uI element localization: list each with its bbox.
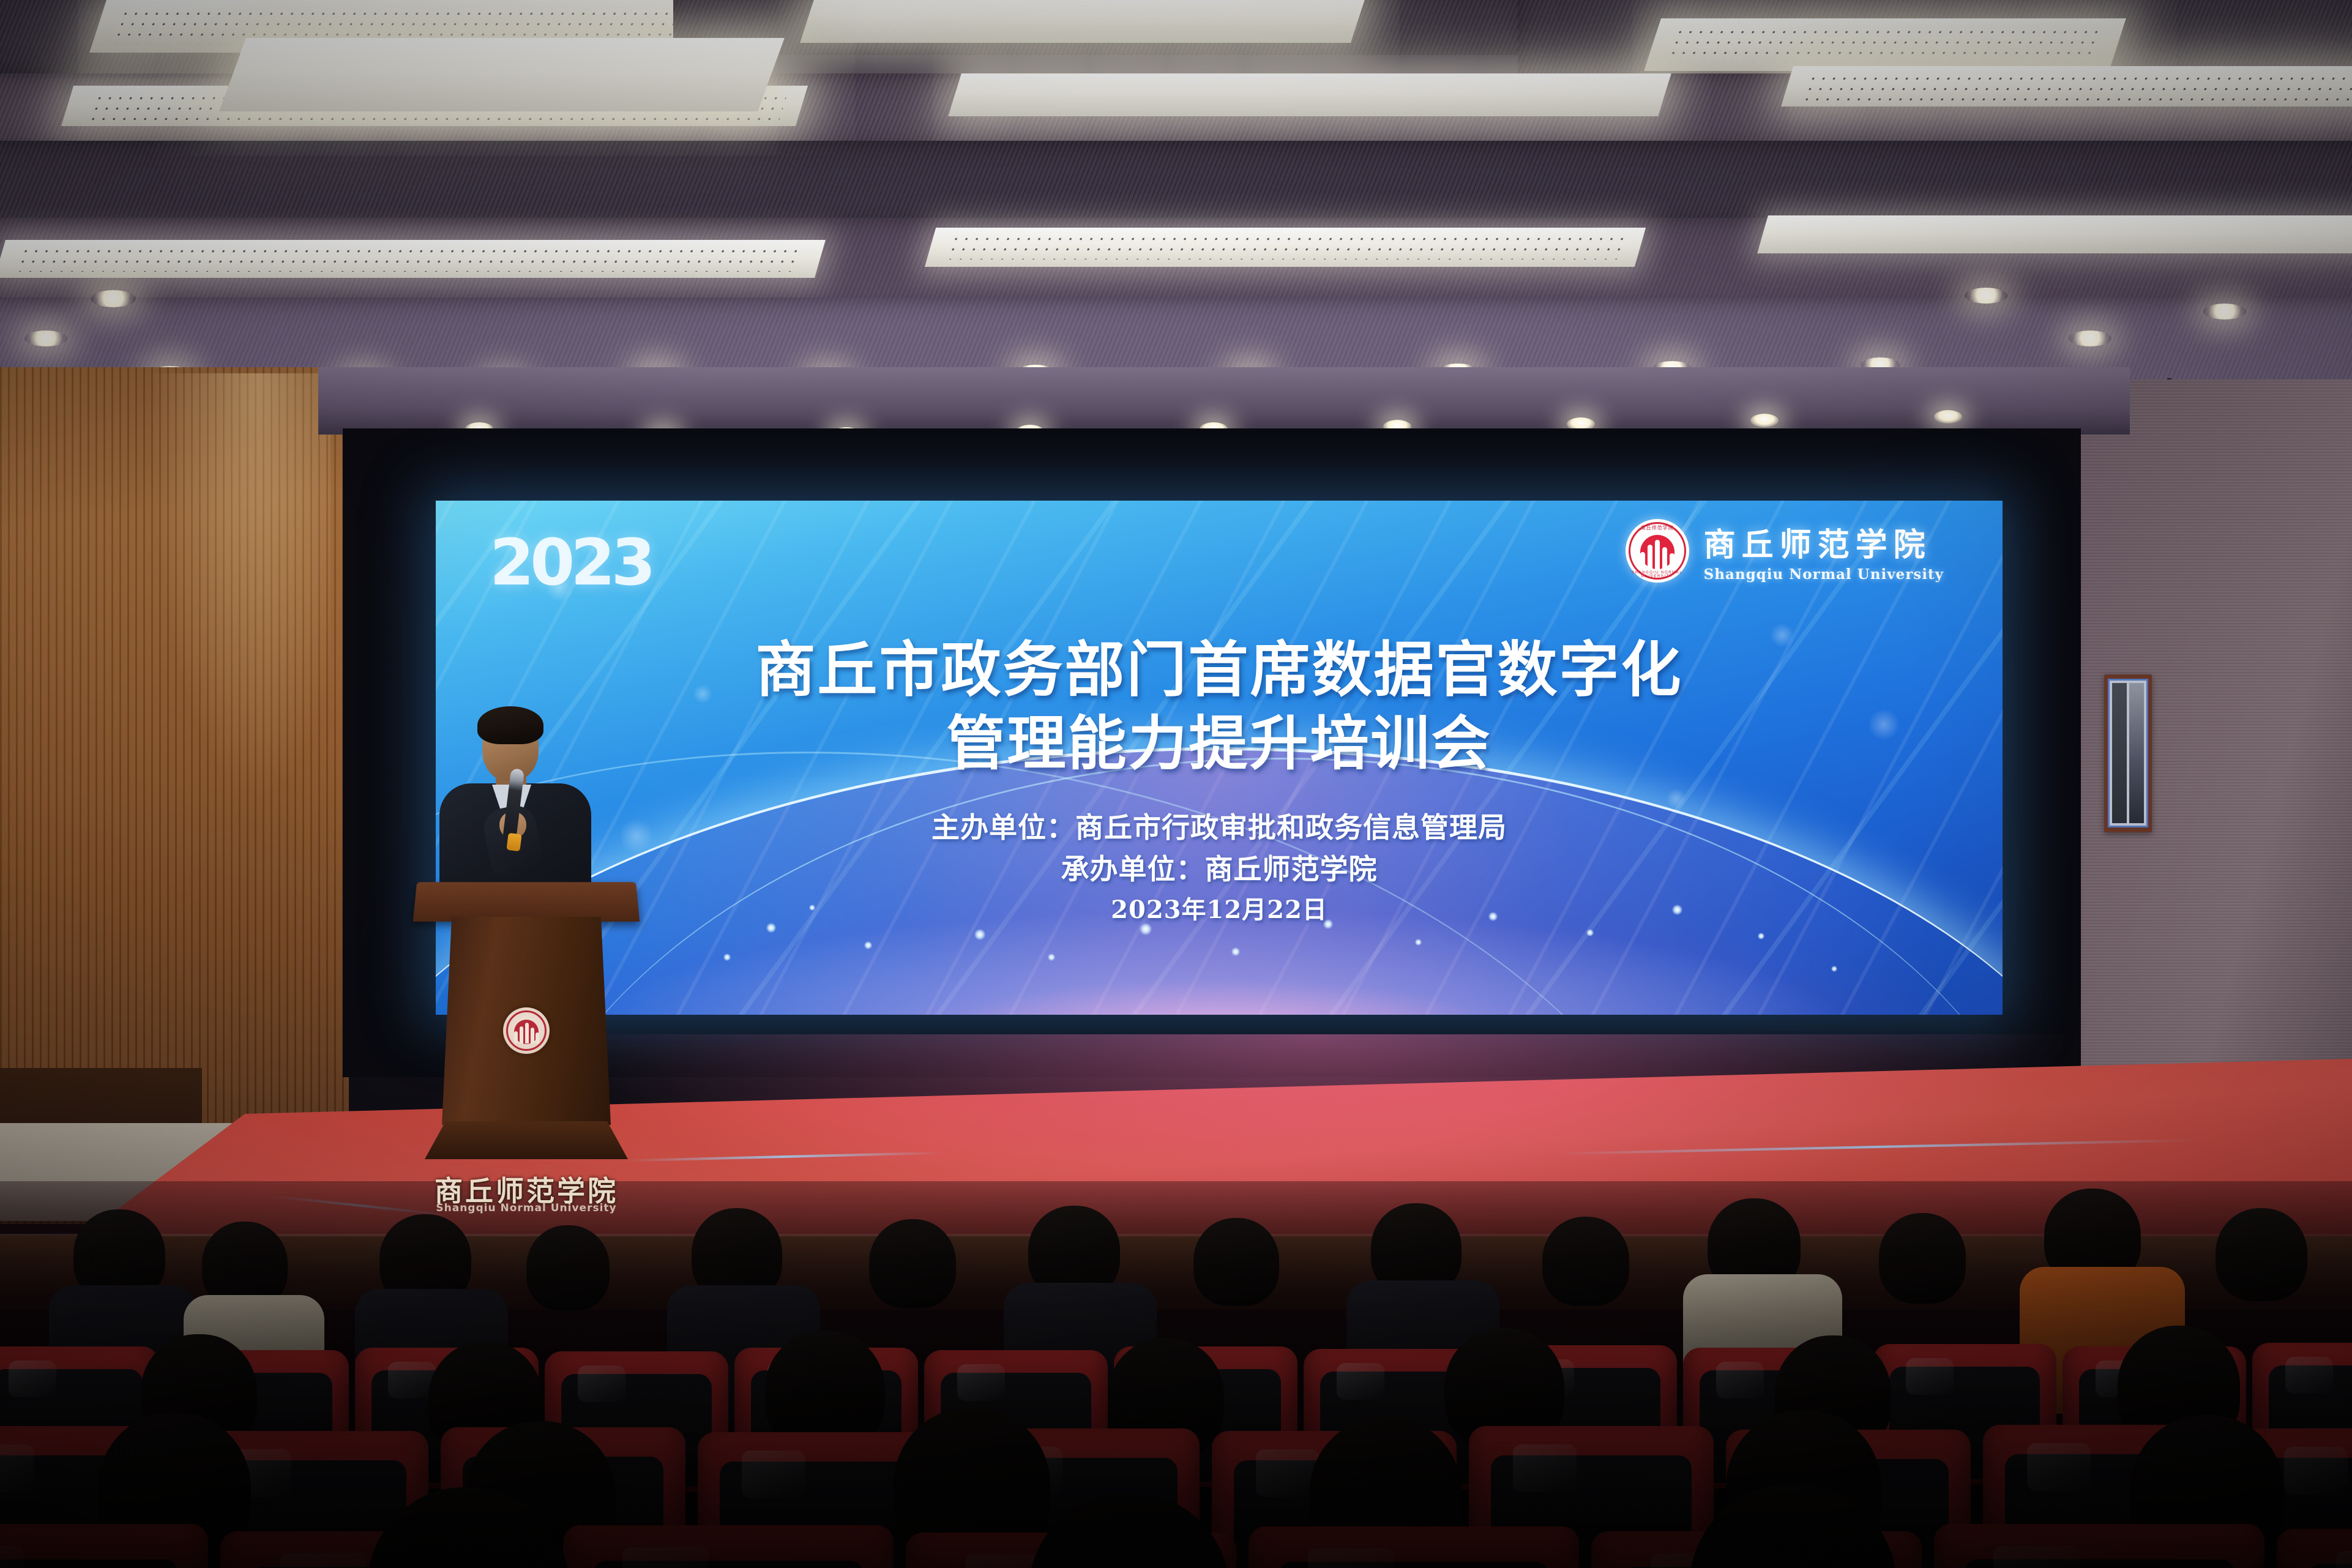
particle [1586,929,1594,936]
wall-wash-light [147,373,330,802]
emblem-bottom-text: SHANGQIU NORMAL UNIVERSITY [1626,571,1689,578]
proscenium-downlight [1934,410,1962,424]
window-pane-right [2129,683,2144,823]
organizer-block: 主办单位：商丘市行政审批和政务信息管理局 承办单位：商丘师范学院 [436,807,2003,890]
theater-seat [1249,1526,1579,1568]
particle [1415,939,1422,946]
year-badge: 2023 [490,525,652,600]
podium-english-name: Shangqiu Normal University [416,1202,637,1214]
particle [974,929,985,940]
microphone-tip [506,833,521,851]
bokeh-dot [1666,788,1687,809]
podium-top [413,882,640,922]
window-pane-left [2112,683,2127,823]
emblem-top-text: 商丘师范学院 [1626,525,1689,531]
downlight [91,290,136,307]
wall-window [2104,674,2152,832]
theater-seat [1934,1524,2264,1568]
podium-body [442,917,611,1125]
university-emblem-icon: 商丘师范学院 SHANGQIU NORMAL UNIVERSITY [1626,519,1689,583]
perforation-pattern [1665,27,2105,62]
particle [723,954,731,961]
particle [864,941,872,949]
speaker [428,704,606,906]
theater-seat [0,1524,208,1568]
organizer-line: 主办单位：商丘市行政审批和政务信息管理局 [436,807,2003,848]
event-title-line1: 商丘市政务部门首席数据官数字化 [436,637,2003,704]
podium-base [425,1121,628,1159]
ceiling-light-panel [1757,215,2352,253]
podium-emblem-icon [503,1007,550,1054]
ceiling [0,0,2352,404]
downlight [2203,304,2246,319]
theater-seat [2277,1529,2352,1568]
ceiling-light-panel [800,0,1367,43]
audience-head [1542,1217,1629,1306]
ceiling-light-panel [948,73,1671,116]
downlight [24,330,67,346]
audience-head [869,1219,956,1309]
logo-english-name: Shangqiu Normal University [1704,566,1944,583]
event-title: 商丘市政务部门首席数据官数字化 管理能力提升培训会 [436,637,2003,783]
speaker-hair [477,706,543,744]
event-date: 2023年12月22日 [436,890,2003,925]
audience-head [2216,1208,2307,1301]
audience-head [1879,1213,1966,1304]
auditorium-photo: 2023 商丘师范学院 SHANGQIU NORMAL UNIVERSITY 商… [0,0,2352,1568]
theater-seat [563,1525,894,1568]
host-line: 承办单位：商丘师范学院 [436,848,2003,890]
led-screen: 2023 商丘师范学院 SHANGQIU NORMAL UNIVERSITY 商… [436,501,2003,1015]
particle [1231,947,1240,956]
particle [1758,933,1764,939]
downlight [1965,288,2007,304]
proscenium-downlight [1750,414,1779,427]
emblem-bars-icon [1639,537,1676,569]
audience-area [0,1181,2352,1568]
particle [1048,954,1055,961]
university-logo-lockup: 商丘师范学院 SHANGQIU NORMAL UNIVERSITY 商丘师范学院… [1626,519,1944,583]
event-title-line2: 管理能力提升培训会 [436,704,2003,783]
audience-head [1193,1218,1279,1306]
logo-chinese-name: 商丘师范学院 [1704,519,1944,565]
perforation-pattern [945,234,1626,259]
audience-head [526,1225,610,1311]
particle [1831,966,1837,972]
podium: 商丘师范学院 Shangqiu Normal University [428,881,624,1206]
ceiling-light-panel [219,38,785,111]
perforation-pattern [15,246,805,272]
perforation-pattern [1801,73,2352,100]
downlight [2069,330,2111,346]
